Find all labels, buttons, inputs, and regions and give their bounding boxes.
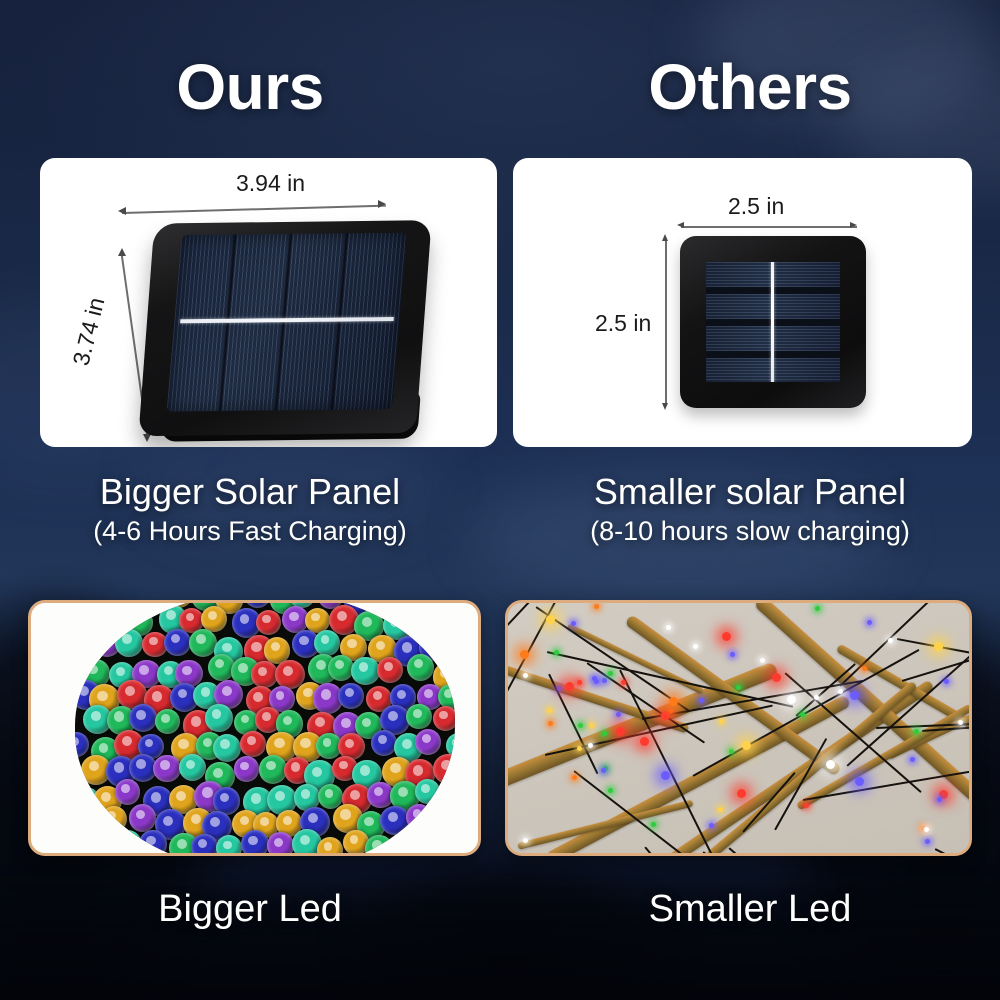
led-point-light	[577, 680, 582, 685]
others-height-dimension-line	[665, 240, 667, 404]
branch-string-lights-scene	[508, 603, 969, 853]
others-height-dimension-label: 2.5 in	[595, 310, 651, 337]
others-width-arrow-right-icon	[850, 222, 857, 228]
led-bulb	[407, 654, 434, 681]
bottom-labels-row: Bigger Led Smaller Led	[0, 888, 1000, 931]
led-point-light	[699, 698, 704, 703]
others-width-dimension-label: 2.5 in	[728, 193, 784, 220]
led-bulb	[251, 661, 277, 687]
led-bulb	[406, 704, 432, 730]
led-bulb	[443, 834, 455, 856]
others-led-label: Smaller Led	[500, 888, 1000, 931]
led-point-light	[578, 723, 583, 728]
led-point-light	[719, 719, 724, 724]
led-bulb	[403, 609, 431, 637]
comparison-infographic: Ours Others 3.94 in 3.74 in	[0, 0, 1000, 1000]
ours-width-arrow-left-icon	[118, 207, 126, 215]
led-point-light	[760, 658, 765, 663]
led-point-light	[616, 712, 621, 717]
others-height-arrow-bottom-icon	[662, 403, 668, 410]
led-bulb	[430, 606, 455, 637]
heading-others: Others	[500, 44, 1000, 130]
led-bulb	[371, 730, 397, 756]
ours-solar-panel-image	[136, 204, 445, 447]
led-point-light	[736, 685, 741, 690]
others-caption-sub: (8-10 hours slow charging)	[500, 515, 1000, 547]
heading-ours: Ours	[0, 44, 500, 130]
headings-row: Ours Others	[0, 44, 1000, 130]
led-point-light	[693, 644, 698, 649]
led-bulb	[433, 754, 455, 785]
led-point-light	[737, 789, 746, 798]
led-bulb	[155, 709, 180, 734]
led-bulb	[139, 830, 167, 856]
led-point-light	[588, 743, 593, 748]
others-solar-panel-image	[680, 236, 866, 408]
ours-width-dimension-label: 3.94 in	[236, 170, 305, 197]
light-string-wire	[935, 848, 969, 853]
led-bulb	[213, 734, 242, 763]
ours-led-photo-card	[28, 600, 481, 856]
others-panel-card: 2.5 in 2.5 in	[513, 158, 972, 447]
led-bulb	[351, 657, 379, 685]
led-bulb	[115, 629, 143, 657]
led-bulb	[129, 804, 157, 832]
light-string-wire	[703, 851, 837, 853]
led-point-light	[666, 625, 671, 630]
led-point-light	[548, 721, 553, 726]
led-bulb	[129, 704, 157, 732]
led-point-light	[602, 678, 607, 683]
led-bulb	[153, 755, 181, 783]
led-point-light	[925, 839, 930, 844]
led-point-light	[888, 638, 893, 643]
led-point-light	[862, 666, 867, 671]
led-point-light	[661, 771, 670, 780]
panel-busbar	[771, 262, 774, 382]
led-bulb	[101, 806, 128, 833]
panel-photovoltaic-surface	[167, 233, 407, 412]
led-bulb	[127, 854, 154, 856]
led-bulb	[234, 756, 259, 781]
led-bulb	[338, 683, 364, 709]
heading-ours-label: Ours	[176, 55, 323, 119]
ours-caption-main: Bigger Solar Panel	[0, 472, 500, 512]
led-bulb	[189, 629, 217, 657]
led-bulb	[317, 837, 343, 856]
led-bulb	[405, 855, 435, 856]
led-point-light	[814, 695, 819, 700]
led-point-light	[718, 807, 723, 812]
led-point-light	[850, 691, 859, 700]
led-point-light	[589, 723, 594, 728]
led-bulb	[377, 854, 406, 856]
ours-height-arrow-top-icon	[118, 248, 126, 256]
led-point-light	[709, 823, 714, 828]
led-bulb	[75, 833, 96, 856]
led-bulb-cluster	[75, 600, 455, 856]
led-point-light	[855, 777, 864, 786]
led-point-light	[934, 642, 943, 651]
led-point-light	[944, 679, 949, 684]
led-point-light	[520, 650, 529, 659]
led-point-light	[651, 822, 656, 827]
led-bulb	[205, 704, 233, 732]
led-point-light	[565, 682, 574, 691]
others-width-arrow-left-icon	[677, 222, 684, 228]
others-caption: Smaller solar Panel (8-10 hours slow cha…	[500, 472, 1000, 548]
led-point-light	[547, 708, 552, 713]
led-point-light	[602, 731, 607, 736]
led-bulb	[191, 834, 218, 856]
led-bulb	[164, 629, 191, 656]
ours-caption: Bigger Solar Panel (4-6 Hours Fast Charg…	[0, 472, 500, 548]
led-bulb	[333, 854, 363, 856]
led-point-light	[546, 615, 555, 624]
led-point-light	[722, 632, 731, 641]
led-point-light	[557, 686, 562, 691]
light-string-wire	[728, 848, 890, 853]
captions-row: Bigger Solar Panel (4-6 Hours Fast Charg…	[0, 472, 1000, 548]
led-point-light	[572, 775, 577, 780]
ours-panel-card: 3.94 in 3.74 in	[40, 158, 497, 447]
led-bulb	[240, 731, 266, 757]
led-bulb	[201, 606, 227, 632]
led-bulb	[415, 779, 440, 804]
led-bulb	[365, 835, 393, 856]
led-bulb	[314, 630, 340, 656]
led-bulb	[377, 657, 403, 683]
others-width-dimension-line	[681, 226, 857, 228]
led-bulb	[433, 706, 455, 731]
led-point-light	[787, 695, 796, 704]
led-point-light	[937, 797, 942, 802]
led-bulb	[256, 610, 282, 636]
led-point-light	[910, 757, 915, 762]
led-point-light	[804, 803, 809, 808]
led-point-light	[815, 606, 820, 611]
led-point-light	[594, 604, 599, 609]
led-point-light	[924, 827, 929, 832]
led-bulb	[267, 832, 294, 856]
led-point-light	[867, 620, 872, 625]
panel-busbar	[180, 317, 394, 323]
others-caption-main: Smaller solar Panel	[500, 472, 1000, 512]
panel-photovoltaic-surface	[706, 262, 840, 382]
led-point-light	[571, 621, 576, 626]
led-bulb	[358, 855, 388, 856]
heading-others-label: Others	[648, 55, 851, 119]
led-point-light	[608, 788, 613, 793]
ours-caption-sub: (4-6 Hours Fast Charging)	[0, 515, 500, 547]
ours-height-dimension-label: 3.74 in	[64, 282, 113, 382]
led-bulb	[282, 855, 308, 856]
led-bulb	[244, 600, 271, 608]
led-bulb	[415, 729, 442, 756]
led-point-light	[661, 711, 670, 720]
led-point-light	[640, 737, 649, 746]
others-height-arrow-top-icon	[662, 234, 668, 241]
led-bulb	[429, 805, 455, 832]
led-bulb	[216, 835, 242, 856]
ours-led-label: Bigger Led	[0, 888, 500, 931]
led-point-light	[772, 673, 781, 682]
led-bulb	[75, 732, 89, 758]
led-point-light	[608, 671, 613, 676]
led-bulb	[241, 830, 269, 856]
led-bulb	[115, 779, 141, 805]
led-point-light	[730, 652, 735, 657]
led-point-light	[601, 768, 606, 773]
led-point-light	[594, 679, 599, 684]
led-bulb	[179, 754, 206, 781]
led-bulb	[113, 830, 142, 856]
others-led-photo-card	[505, 600, 972, 856]
led-bulb	[77, 809, 102, 834]
